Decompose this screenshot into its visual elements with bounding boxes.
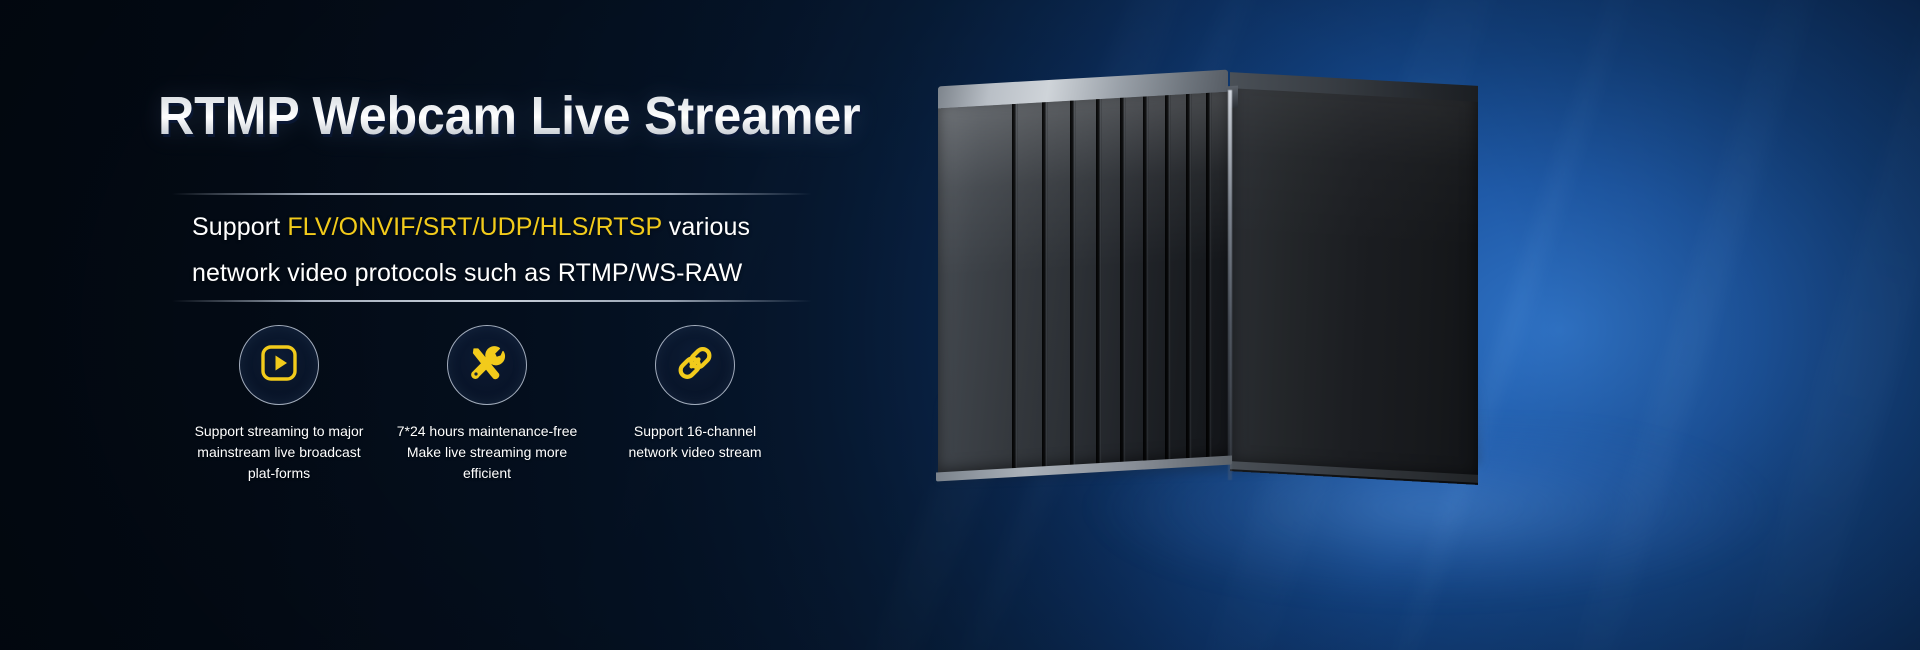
feature-item: Support streaming to major mainstream li…: [175, 325, 383, 484]
subtitle-suffix: various: [662, 213, 750, 241]
subtitle-line2: network video protocols such as RTMP/WS-…: [192, 259, 742, 287]
feature-item: Support 16-channel network video stream: [591, 325, 799, 484]
divider-bottom: [172, 300, 812, 302]
banner-content: RTMP Webcam Live Streamer Support FLV/ON…: [0, 0, 900, 650]
feature-icon-circle: [447, 325, 527, 405]
feature-item: 7*24 hours maintenance-free Make live st…: [383, 325, 591, 484]
feature-icon-circle: [655, 325, 735, 405]
banner-subtitle: Support FLV/ONVIF/SRT/UDP/HLS/RTSP vario…: [192, 204, 852, 296]
subtitle-prefix: Support: [192, 213, 287, 241]
subtitle-protocols: FLV/ONVIF/SRT/UDP/HLS/RTSP: [287, 213, 661, 241]
banner-title: RTMP Webcam Live Streamer: [158, 85, 860, 147]
chain-link-icon: [673, 341, 717, 390]
tools-maintenance-icon: [465, 341, 509, 390]
play-button-icon: [258, 342, 300, 389]
feature-list: Support streaming to major mainstream li…: [175, 325, 815, 484]
feature-caption: Support streaming to major mainstream li…: [184, 421, 374, 484]
divider-top: [172, 193, 812, 195]
feature-icon-circle: [239, 325, 319, 405]
feature-caption: 7*24 hours maintenance-free Make live st…: [387, 421, 587, 484]
feature-caption: Support 16-channel network video stream: [608, 421, 783, 463]
promo-banner: RTMP Webcam Live Streamer Support FLV/ON…: [0, 0, 1920, 650]
